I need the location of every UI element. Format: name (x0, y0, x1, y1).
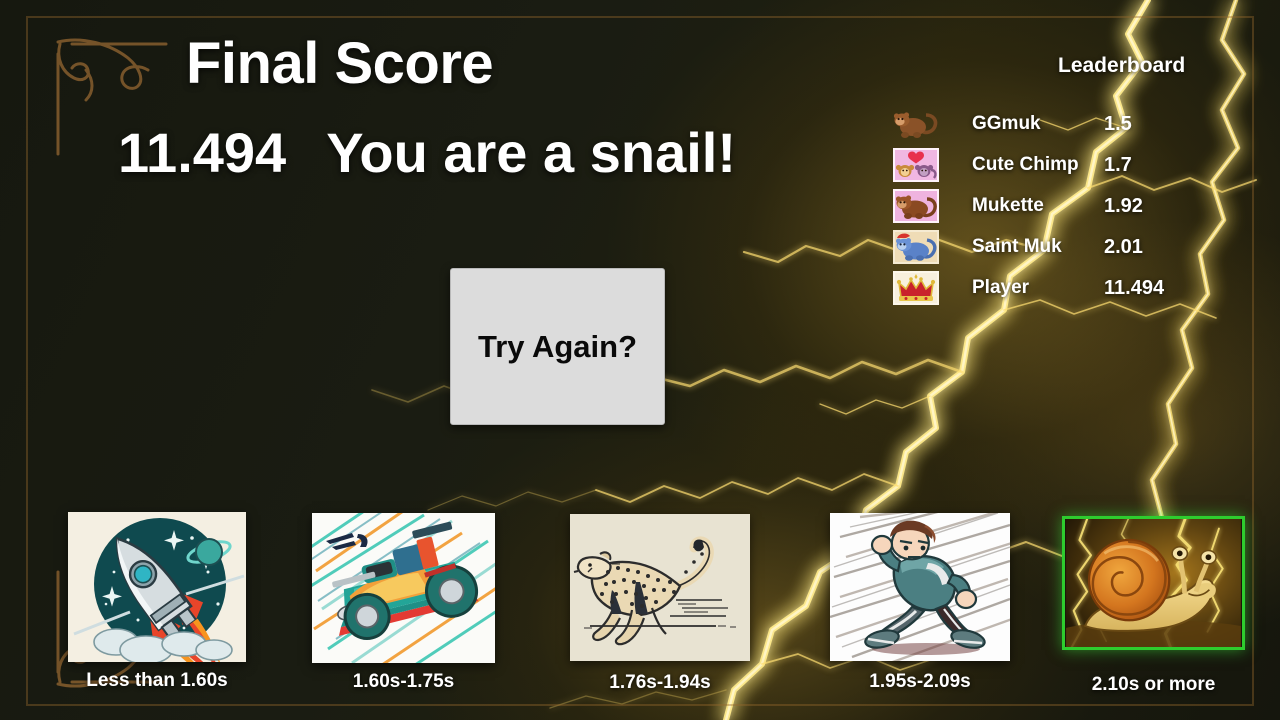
tier-card-cheetah[interactable]: 1.76s-1.94s (570, 514, 750, 661)
cheetah-icon (570, 514, 750, 661)
tier-label: 1.60s-1.75s (353, 671, 454, 693)
tier-card-snail[interactable]: 2.10s or more (1062, 516, 1245, 650)
tier-legend: Less than 1.60s (0, 0, 1280, 720)
snail-icon (1062, 516, 1245, 650)
game-result-screen: Final Score 11.494 You are a snail! Try … (0, 0, 1280, 720)
tier-label: 1.95s-2.09s (869, 671, 970, 693)
racecar-icon (312, 513, 495, 663)
tier-card-racecar[interactable]: 1.60s-1.75s (312, 513, 495, 663)
tier-label: 2.10s or more (1092, 674, 1216, 696)
tier-card-rocket[interactable]: Less than 1.60s (68, 512, 246, 662)
tier-card-sprinter[interactable]: 1.95s-2.09s (830, 513, 1010, 661)
tier-label: Less than 1.60s (86, 670, 228, 692)
rocket-icon (68, 512, 246, 662)
tier-label: 1.76s-1.94s (609, 672, 710, 694)
sprinter-icon (830, 513, 1010, 661)
